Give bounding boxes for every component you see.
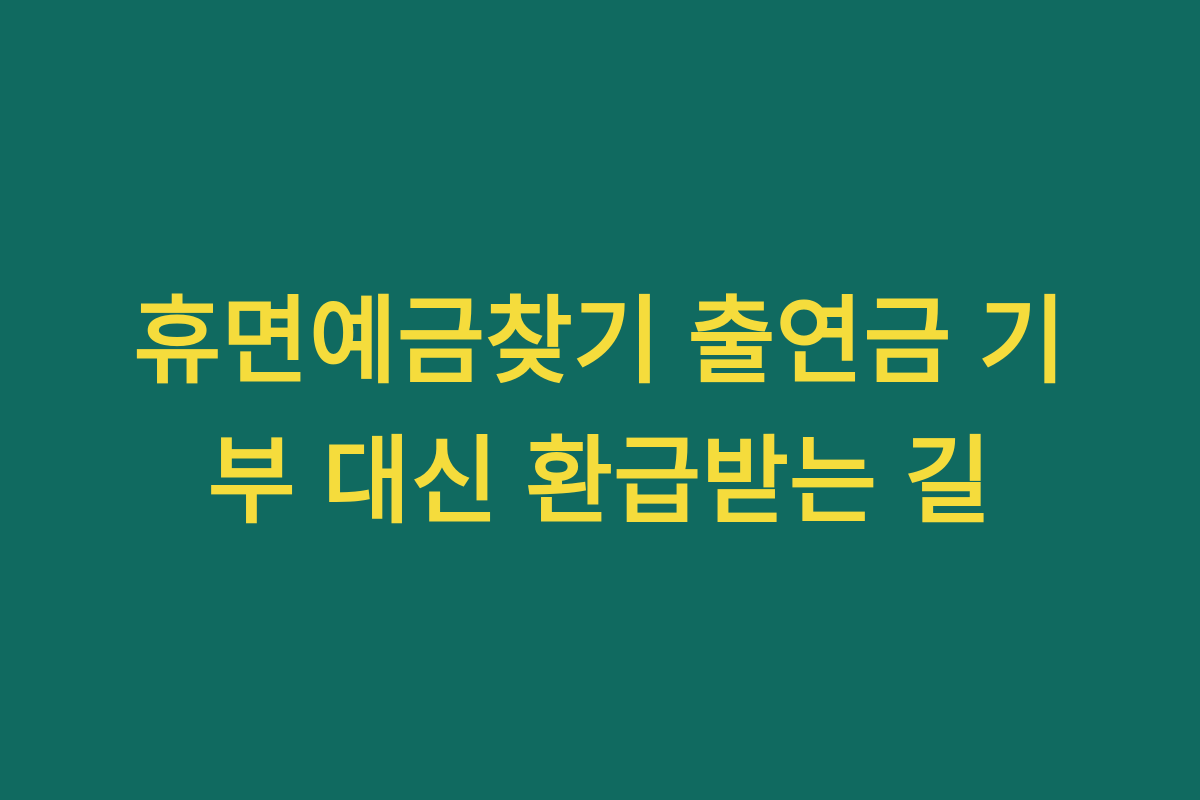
headline-block: 휴면예금찾기 출연금 기부 대신 환급받는 길 (95, 272, 1105, 552)
thumbnail-canvas: 휴면예금찾기 출연금 기부 대신 환급받는 길 (0, 0, 1200, 800)
headline-text: 휴면예금찾기 출연금 기부 대신 환급받는 길 (95, 272, 1105, 552)
